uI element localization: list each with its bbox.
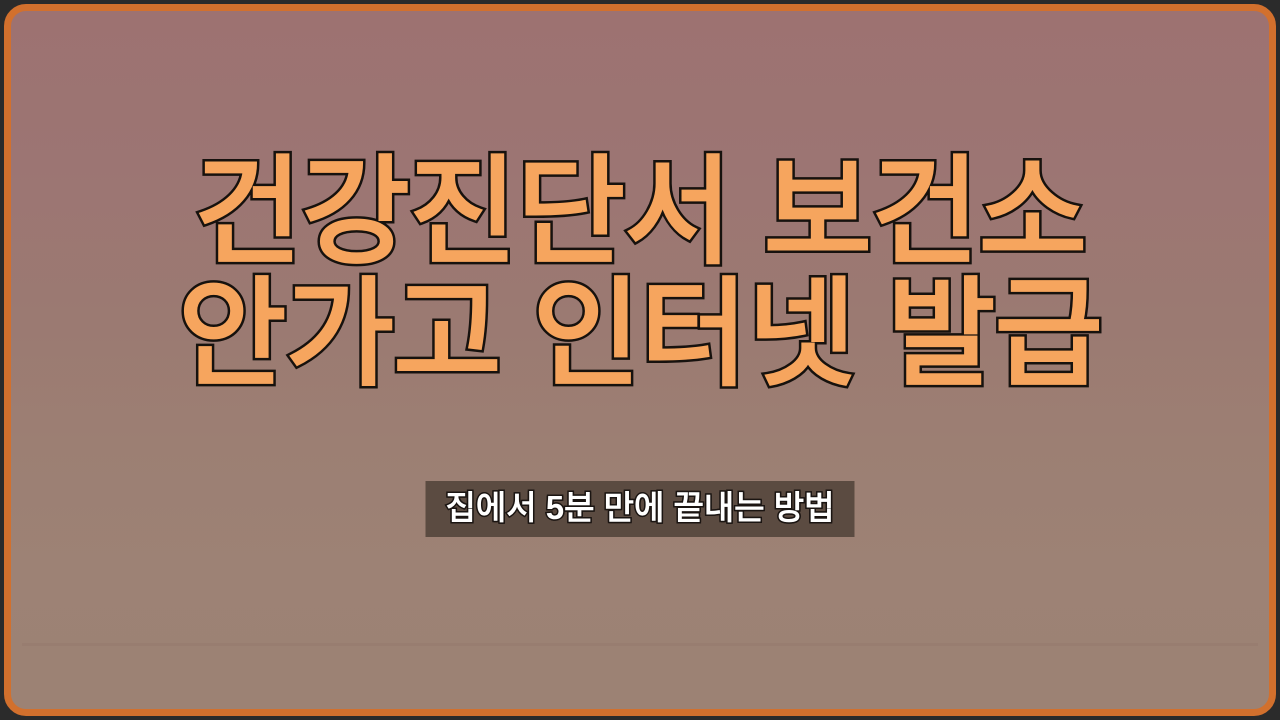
headline-block: 건강진단서 보건소 안가고 인터넷 발급 [0,150,1280,398]
headline-line-2: 안가고 인터넷 발급 [0,272,1280,398]
subtitle-text: 집에서 5분 만에 끝내는 방법 [446,488,835,528]
subtitle-band: 집에서 5분 만에 끝내는 방법 [426,481,855,537]
thumbnail-canvas: 건강진단서 보건소 안가고 인터넷 발급 집에서 5분 만에 끝내는 방법 [0,0,1280,720]
headline-line-1: 건강진단서 보건소 [0,150,1280,276]
background-seam [22,643,1258,646]
